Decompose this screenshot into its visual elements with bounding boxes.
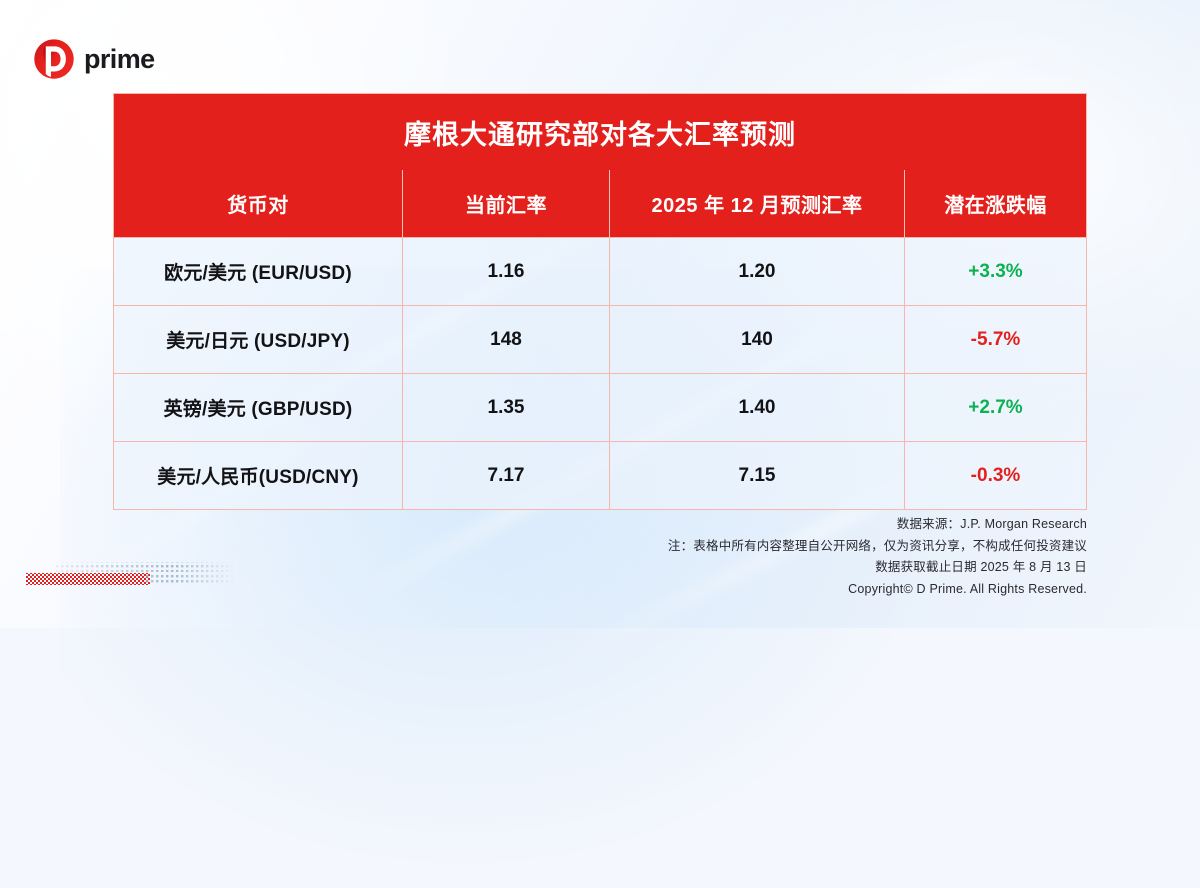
column-header-potential-change: 潜在涨跌幅 xyxy=(904,170,1086,237)
cell-currency-pair: 英镑/美元 (GBP/USD) xyxy=(114,374,402,441)
note-data-source: 数据来源：J.P. Morgan Research xyxy=(668,514,1087,536)
cell-current-rate: 1.35 xyxy=(402,374,609,441)
cell-potential-change: +2.7% xyxy=(904,374,1086,441)
cell-potential-change: +3.3% xyxy=(904,238,1086,305)
copyright-notice: Copyright© D Prime. All Rights Reserved. xyxy=(848,582,1087,596)
cell-potential-change: -0.3% xyxy=(904,442,1086,509)
cell-current-rate: 1.16 xyxy=(402,238,609,305)
column-header-currency-pair: 货币对 xyxy=(114,170,402,237)
cell-forecast-rate: 1.40 xyxy=(609,374,904,441)
column-header-forecast-rate: 2025 年 12 月预测汇率 xyxy=(609,170,904,237)
cell-forecast-rate: 140 xyxy=(609,306,904,373)
note-disclaimer: 注：表格中所有内容整理自公开网络，仅为资讯分享，不构成任何投资建议 xyxy=(668,536,1087,558)
halftone-pattern-icon xyxy=(26,560,236,590)
halftone-decoration xyxy=(26,560,236,590)
cell-forecast-rate: 7.15 xyxy=(609,442,904,509)
cell-current-rate: 148 xyxy=(402,306,609,373)
table-row: 美元/日元 (USD/JPY) 148 140 -5.7% xyxy=(114,305,1086,373)
cell-current-rate: 7.17 xyxy=(402,442,609,509)
cell-currency-pair: 美元/日元 (USD/JPY) xyxy=(114,306,402,373)
brand-wordmark: prime xyxy=(84,46,155,73)
d-prime-logo-icon xyxy=(33,38,75,80)
cell-potential-change: -5.7% xyxy=(904,306,1086,373)
cell-forecast-rate: 1.20 xyxy=(609,238,904,305)
forecast-table: 摩根大通研究部对各大汇率预测 货币对 当前汇率 2025 年 12 月预测汇率 … xyxy=(113,93,1087,510)
cell-currency-pair: 欧元/美元 (EUR/USD) xyxy=(114,238,402,305)
table-row: 美元/人民币(USD/CNY) 7.17 7.15 -0.3% xyxy=(114,441,1086,509)
table-header-row: 货币对 当前汇率 2025 年 12 月预测汇率 潜在涨跌幅 xyxy=(114,170,1086,237)
note-data-cutoff: 数据获取截止日期 2025 年 8 月 13 日 xyxy=(668,557,1087,579)
table-row: 欧元/美元 (EUR/USD) 1.16 1.20 +3.3% xyxy=(114,237,1086,305)
table-row: 英镑/美元 (GBP/USD) 1.35 1.40 +2.7% xyxy=(114,373,1086,441)
footnotes: 数据来源：J.P. Morgan Research 注：表格中所有内容整理自公开… xyxy=(668,514,1087,579)
cell-currency-pair: 美元/人民币(USD/CNY) xyxy=(114,442,402,509)
table-title: 摩根大通研究部对各大汇率预测 xyxy=(114,94,1086,170)
column-header-current-rate: 当前汇率 xyxy=(402,170,609,237)
brand-logo: prime xyxy=(33,38,155,80)
